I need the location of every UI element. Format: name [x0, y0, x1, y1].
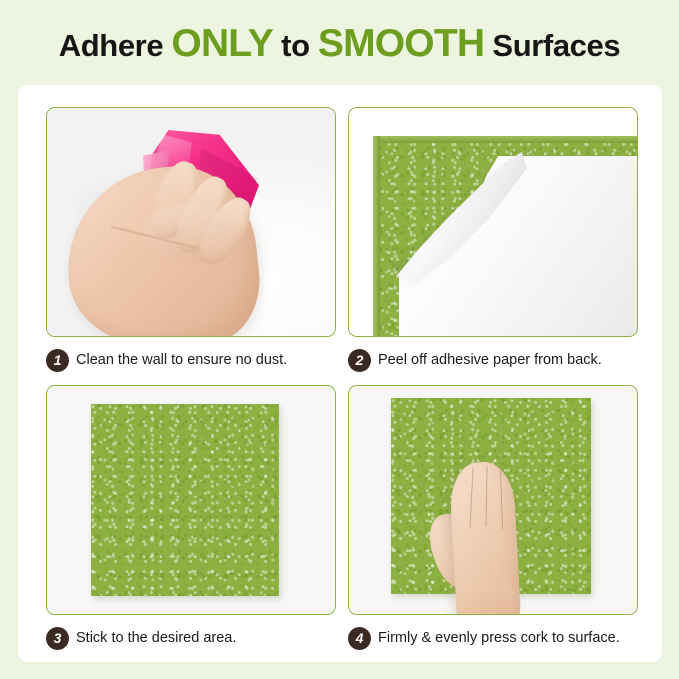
step-1-image: [46, 107, 336, 337]
step-2-image: [348, 107, 638, 337]
step-number-badge-3: 3: [46, 627, 69, 650]
wrist: [463, 582, 513, 615]
step-number-badge-1: 1: [46, 349, 69, 372]
title-part-1: Adhere: [59, 28, 172, 63]
step-2-caption-text: Peel off adhesive paper from back.: [378, 352, 602, 368]
step-1-caption: 1 Clean the wall to ensure no dust.: [46, 347, 336, 373]
step-1-caption-text: Clean the wall to ensure no dust.: [76, 352, 287, 368]
step-number-badge-2: 2: [348, 349, 371, 372]
step-number-badge-4: 4: [348, 627, 371, 650]
cork-tile-applied: [91, 404, 279, 596]
cork-texture: [91, 404, 279, 596]
step-item-4: 4 Firmly & evenly press cork to surface.: [348, 385, 638, 651]
step-item-1: 1 Clean the wall to ensure no dust.: [46, 107, 336, 373]
page-title: Adhere ONLY to SMOOTH Surfaces: [0, 22, 679, 68]
step-2-caption: 2 Peel off adhesive paper from back.: [348, 347, 638, 373]
step-3-caption-text: Stick to the desired area.: [76, 630, 236, 646]
title-part-2: to: [273, 28, 318, 63]
step-4-caption-text: Firmly & evenly press cork to surface.: [378, 630, 620, 646]
instruction-poster: Adhere ONLY to SMOOTH Surfaces 1: [0, 0, 679, 679]
title-part-3: Surfaces: [484, 28, 620, 63]
step-4-caption: 4 Firmly & evenly press cork to surface.: [348, 625, 638, 651]
cork-edge-top: [373, 136, 638, 143]
knuckle-highlight: [143, 204, 239, 262]
title-highlight-only: ONLY: [171, 22, 273, 65]
step-3-caption: 3 Stick to the desired area.: [46, 625, 336, 651]
step-item-2: 2 Peel off adhesive paper from back.: [348, 107, 638, 373]
title-highlight-smooth: SMOOTH: [318, 22, 484, 65]
steps-grid: 1 Clean the wall to ensure no dust. 2: [18, 85, 662, 662]
step-3-image: [46, 385, 336, 615]
step-4-image: [348, 385, 638, 615]
step-item-3: 3 Stick to the desired area.: [46, 385, 336, 651]
cork-edge-left: [373, 136, 380, 337]
